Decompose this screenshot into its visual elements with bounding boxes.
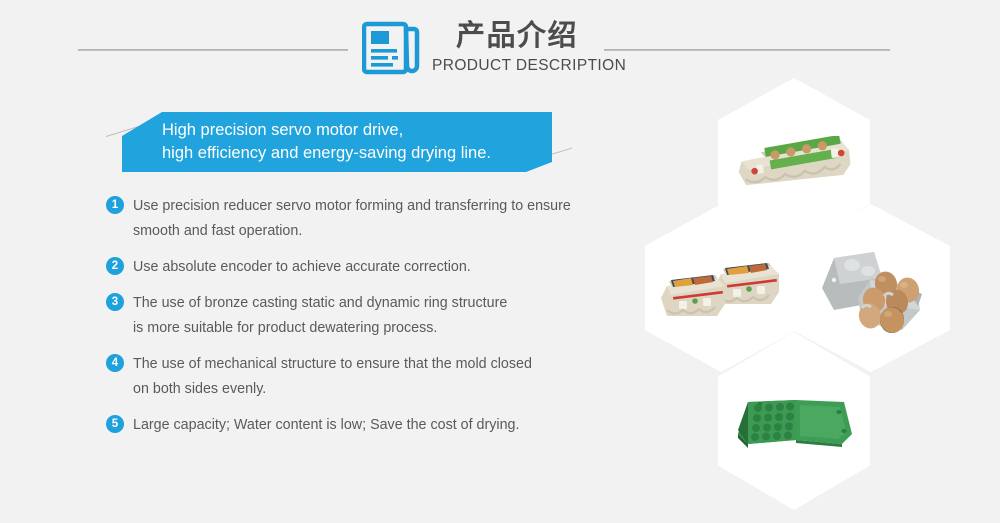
page-title-en: PRODUCT DESCRIPTION <box>432 55 602 77</box>
feature-item-4: 4 The use of mechanical structure to ens… <box>106 352 656 402</box>
header-title-block: 产品介绍 PRODUCT DESCRIPTION <box>432 18 602 77</box>
feature-item-3: 3 The use of bronze casting static and d… <box>106 291 656 341</box>
feature-number-badge: 5 <box>106 415 124 433</box>
feature-line-1: The use of bronze casting static and dyn… <box>133 295 507 311</box>
feature-number-badge: 3 <box>106 293 124 311</box>
feature-text: The use of bronze casting static and dyn… <box>133 291 507 341</box>
feature-line-1: Use precision reducer servo motor formin… <box>133 198 571 214</box>
feature-text: Use precision reducer servo motor formin… <box>133 194 571 244</box>
green-egg-carton-photo <box>732 136 856 190</box>
header-divider-left <box>78 49 348 51</box>
gray-carton-eggs-photo <box>818 248 928 334</box>
header-divider-right <box>604 49 890 51</box>
feature-line-2: smooth and fast operation. <box>133 219 571 244</box>
feature-item-2: 2 Use absolute encoder to achieve accura… <box>106 255 656 280</box>
product-description-page: 产品介绍 PRODUCT DESCRIPTION High precision … <box>0 0 1000 523</box>
feature-number-badge: 1 <box>106 196 124 214</box>
feature-line-1: The use of mechanical structure to ensur… <box>133 356 532 372</box>
feature-text: Large capacity; Water content is low; Sa… <box>133 413 519 438</box>
green-egg-trays-photo <box>734 394 856 452</box>
feature-line-2: is more suitable for product dewatering … <box>133 316 507 341</box>
feature-line-1: Large capacity; Water content is low; Sa… <box>133 417 519 433</box>
feature-item-5: 5 Large capacity; Water content is low; … <box>106 413 656 438</box>
banner-line-1: High precision servo motor drive, <box>162 119 552 142</box>
newspaper-icon <box>362 20 420 76</box>
feature-line-1: Use absolute encoder to achieve accurate… <box>133 259 471 275</box>
headline-banner-wrap: High precision servo motor drive, high e… <box>104 104 574 180</box>
headline-banner: High precision servo motor drive, high e… <box>122 112 552 172</box>
feature-number-badge: 2 <box>106 257 124 275</box>
feature-number-badge: 4 <box>106 354 124 372</box>
feature-text: Use absolute encoder to achieve accurate… <box>133 255 471 280</box>
feature-text: The use of mechanical structure to ensur… <box>133 352 532 402</box>
feature-item-1: 1 Use precision reducer servo motor form… <box>106 194 656 244</box>
page-title-cn: 产品介绍 <box>432 18 602 52</box>
feature-list: 1 Use precision reducer servo motor form… <box>106 194 656 449</box>
feature-line-2: on both sides evenly. <box>133 377 532 402</box>
two-pulp-cartons-photo <box>659 262 785 320</box>
product-image-collage <box>640 70 1000 523</box>
banner-line-2: high efficiency and energy-saving drying… <box>162 142 552 165</box>
